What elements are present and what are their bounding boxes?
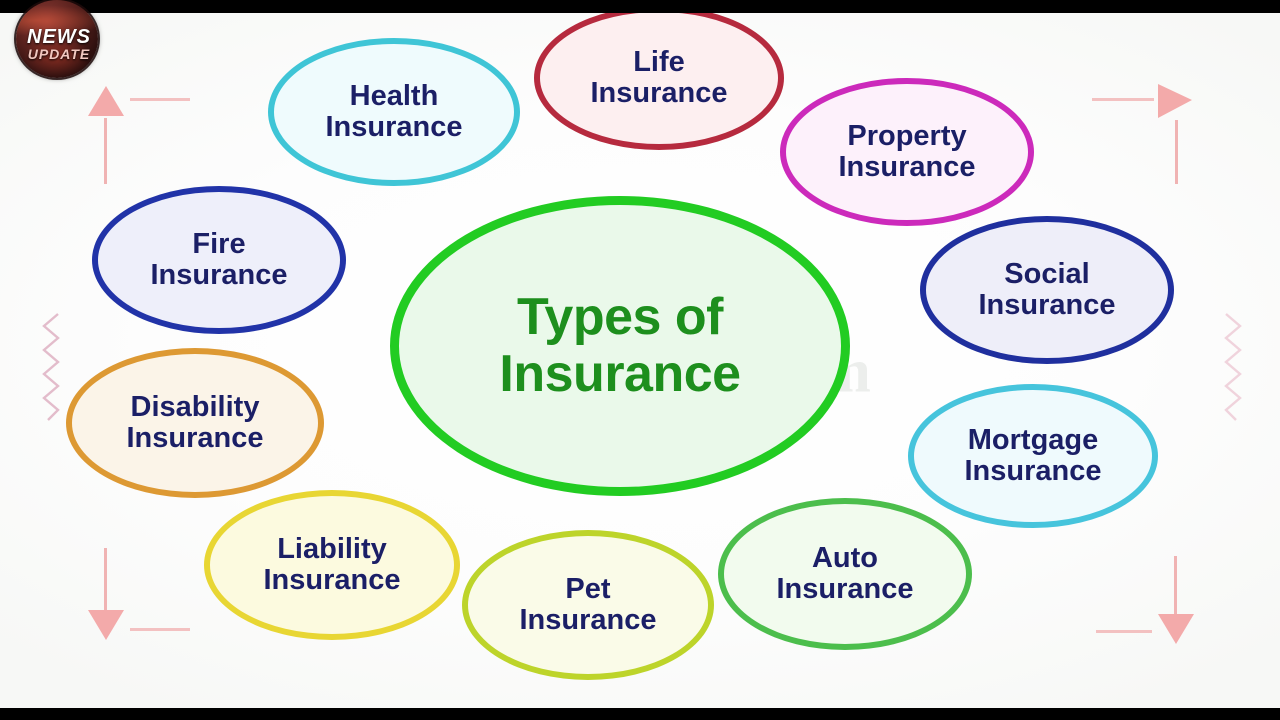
node-property-insurance-label: Property Insurance [833,121,982,182]
letterbox-top [0,0,1280,13]
node-auto-insurance-line2: Insurance [777,574,914,605]
node-social-insurance-line2: Insurance [979,290,1116,321]
node-disability-insurance-line1: Disability [131,391,260,423]
node-auto-insurance-line1: Auto [812,542,878,574]
node-fire-insurance-label: Fire Insurance [145,229,294,290]
logo-line2: UPDATE [14,46,104,62]
top-right-arrow-right-icon [1092,78,1202,188]
node-mortgage-insurance-line2: Insurance [965,456,1102,487]
node-disability-insurance-label: Disability Insurance [121,392,270,453]
news-update-logo[interactable]: NEWS UPDATE [14,0,104,80]
node-pet-insurance-line1: Pet [565,573,610,605]
node-health-insurance-line2: Insurance [326,112,463,143]
node-social-insurance-label: Social Insurance [973,259,1122,320]
node-health-insurance-label: Health Insurance [320,81,469,142]
node-life-insurance-line2: Insurance [591,78,728,109]
letterbox-bottom [0,708,1280,720]
node-life-insurance-label: Life Insurance [585,47,734,108]
node-fire-insurance-line1: Fire [192,228,245,260]
center-node-line2: Insurance [499,346,740,403]
node-life-insurance-line1: Life [633,46,685,78]
center-node-line1: Types of [517,288,723,346]
node-property-insurance-line1: Property [847,120,966,152]
bottom-right-arrow-down-icon [1088,548,1218,658]
node-pet-insurance-line2: Insurance [520,605,657,636]
node-mortgage-insurance-label: Mortgage Insurance [959,425,1108,486]
node-life-insurance[interactable]: Life Insurance [534,6,784,150]
node-mortgage-insurance-line1: Mortgage [968,424,1099,456]
right-squiggle-icon [1216,312,1246,422]
node-pet-insurance[interactable]: Pet Insurance [462,530,714,680]
node-fire-insurance-line2: Insurance [151,260,288,291]
node-pet-insurance-label: Pet Insurance [514,574,663,635]
node-fire-insurance[interactable]: Fire Insurance [92,186,346,334]
node-social-insurance-line1: Social [1004,258,1089,290]
node-health-insurance[interactable]: Health Insurance [268,38,520,186]
node-liability-insurance-label: Liability Insurance [258,534,407,595]
node-liability-insurance-line1: Liability [277,533,387,565]
node-auto-insurance-label: Auto Insurance [771,543,920,604]
top-left-arrow-up-icon [80,78,190,188]
node-disability-insurance-line2: Insurance [127,423,264,454]
node-social-insurance[interactable]: Social Insurance [920,216,1174,364]
center-node-label: Types of Insurance [493,289,746,403]
center-node-types-of-insurance[interactable]: Types of Insurance [390,196,850,496]
node-health-insurance-line1: Health [350,80,439,112]
node-disability-insurance[interactable]: Disability Insurance [66,348,324,498]
left-squiggle-icon [38,312,68,422]
node-property-insurance[interactable]: Property Insurance [780,78,1034,226]
infographic-canvas: dreamstime.com [0,0,1280,720]
node-auto-insurance[interactable]: Auto Insurance [718,498,972,650]
bottom-left-arrow-down-icon [80,548,200,658]
node-mortgage-insurance[interactable]: Mortgage Insurance [908,384,1158,528]
node-property-insurance-line2: Insurance [839,152,976,183]
node-liability-insurance[interactable]: Liability Insurance [204,490,460,640]
node-liability-insurance-line2: Insurance [264,565,401,596]
